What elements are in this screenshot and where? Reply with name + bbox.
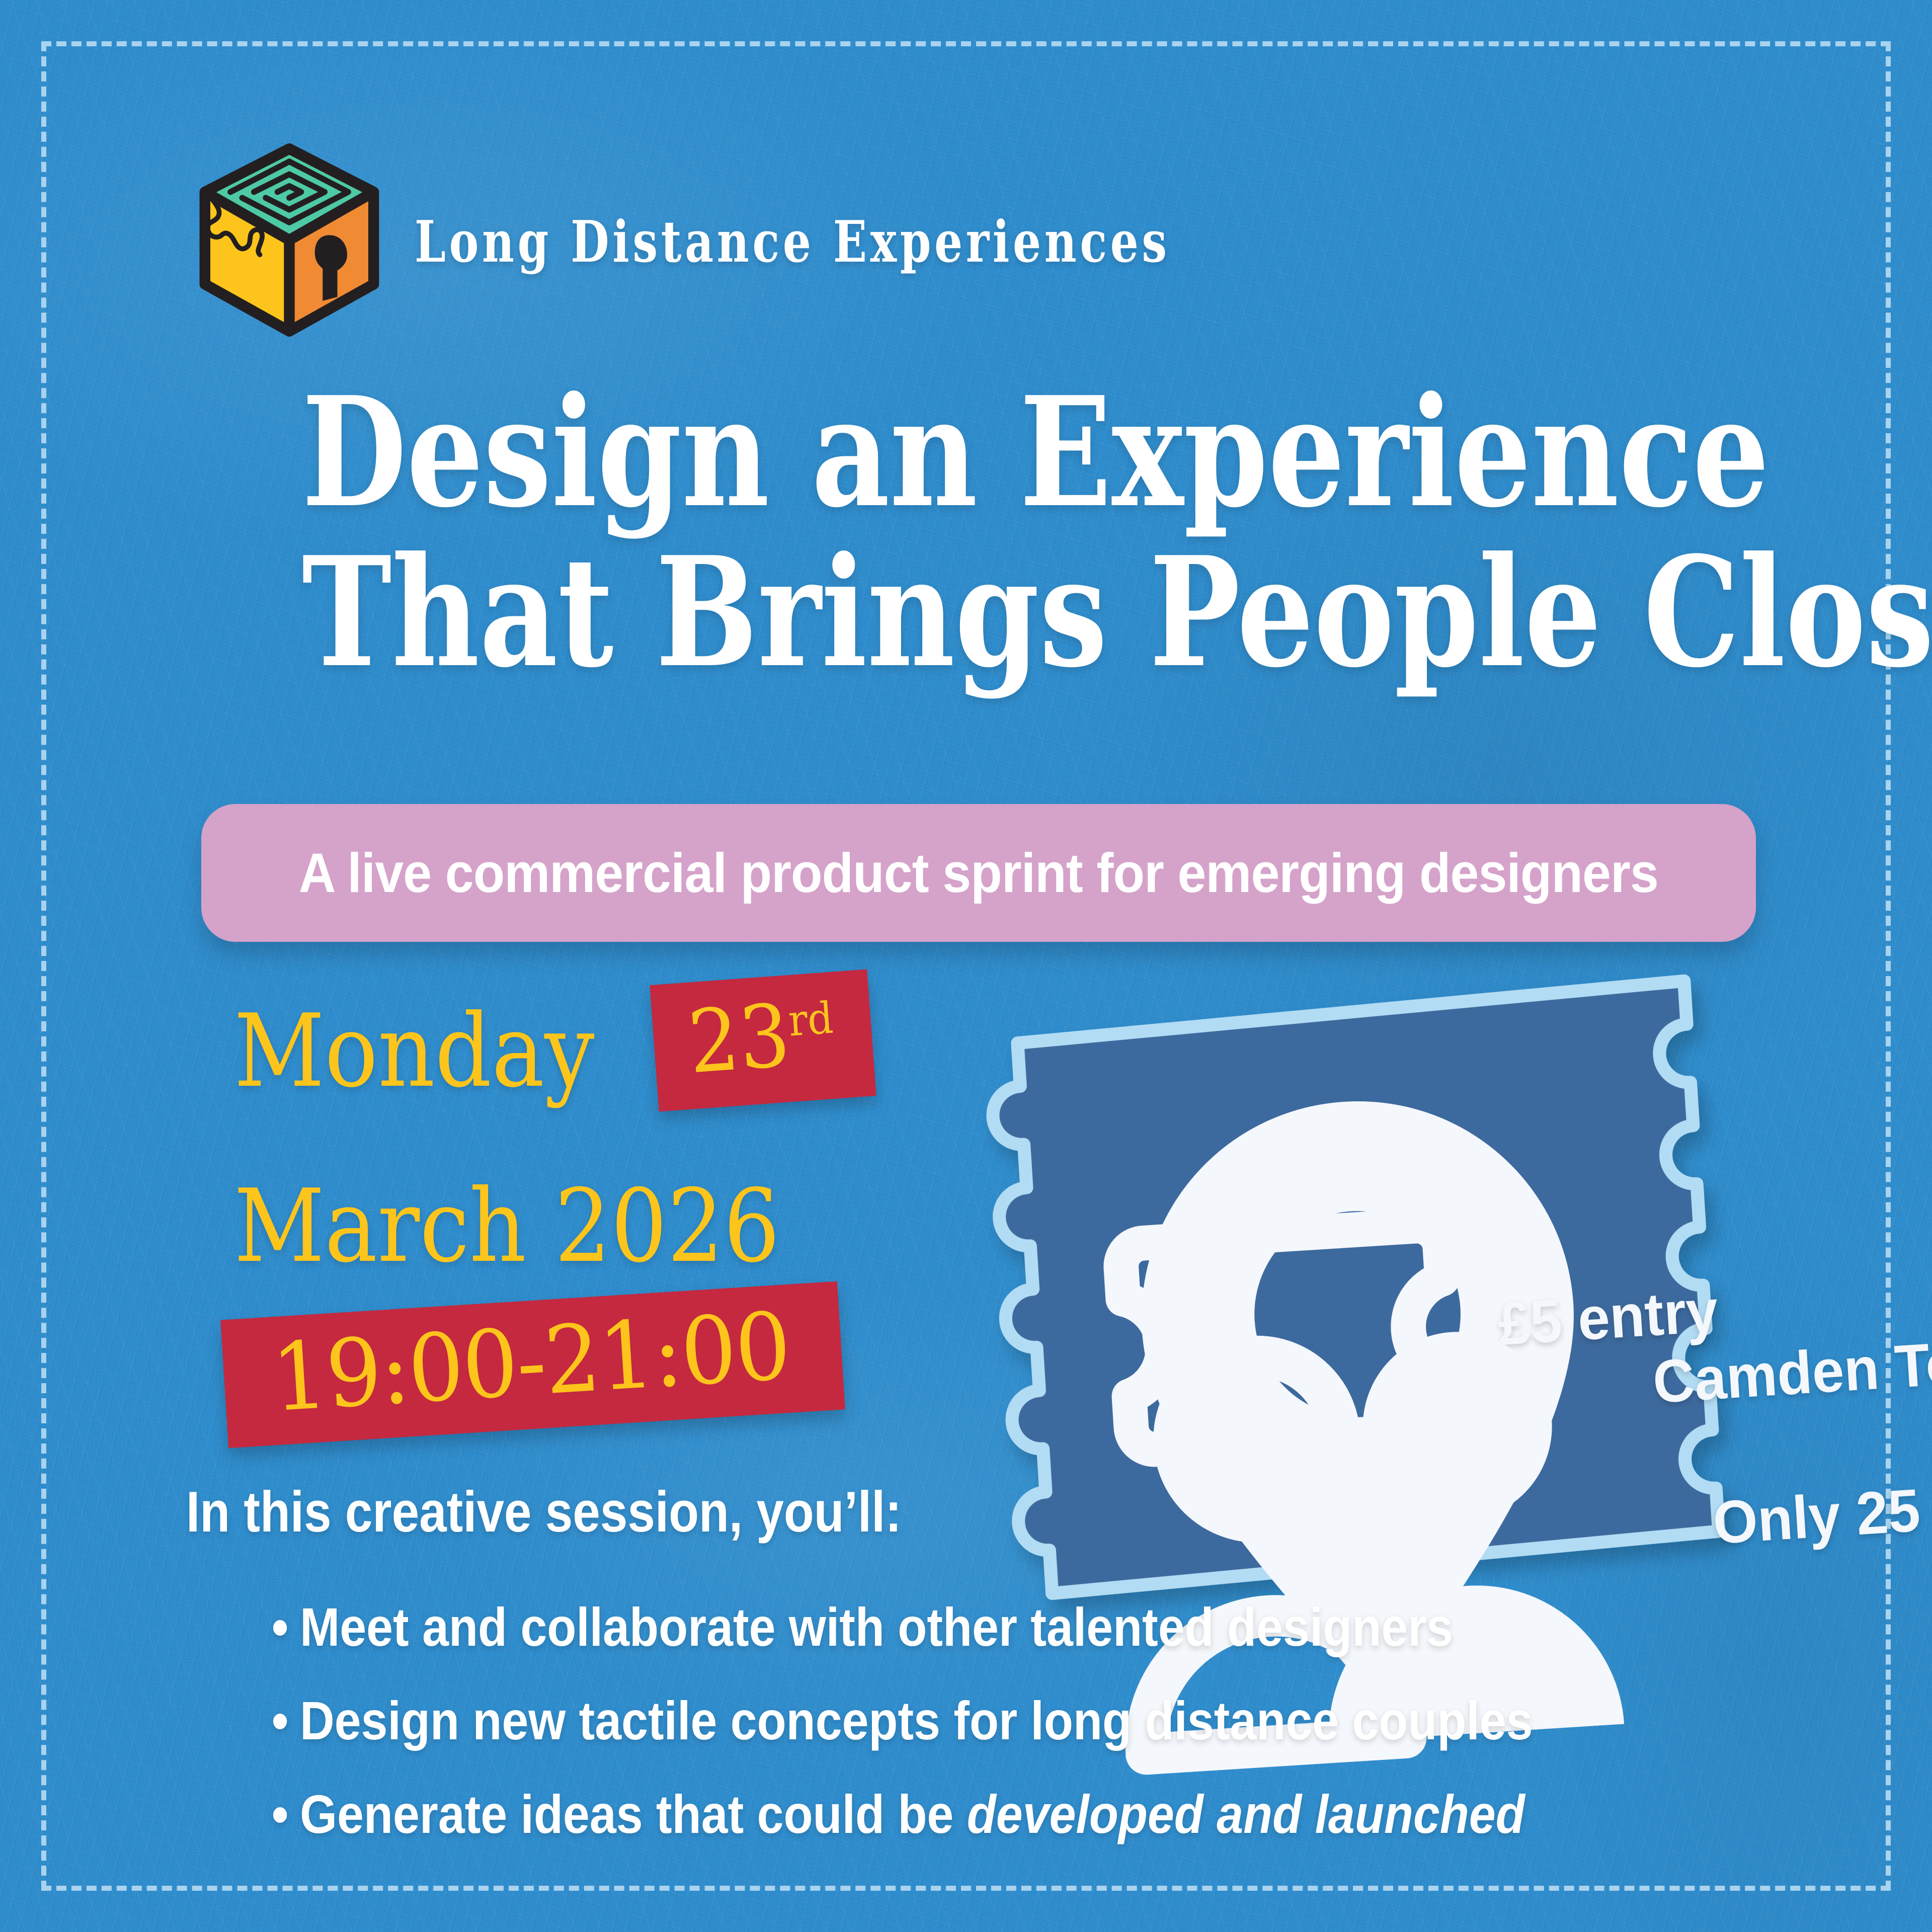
bullet-marker: • <box>272 1784 288 1844</box>
event-weekday: Monday <box>234 1001 595 1102</box>
bullet-emphasis: developed and launched <box>967 1784 1525 1844</box>
bullet-text: Generate ideas that could be <box>300 1784 967 1844</box>
event-date-block: Monday 23rd March 2026 19:00-21:00 <box>234 1001 963 1277</box>
page-title: Design an Experience That Brings People … <box>136 380 1796 685</box>
bullet-marker: • <box>272 1596 288 1657</box>
event-date-row: Monday 23rd <box>234 1001 963 1137</box>
list-item: •Meet and collaborate with other talente… <box>272 1600 1622 1654</box>
event-day-number: 23rd <box>685 989 837 1086</box>
title-line-2: That Brings People Closer <box>302 540 1630 685</box>
list-item: •Generate ideas that could be developed … <box>272 1787 1622 1841</box>
ticket-rows: Camden Town £5 entry Only 2 <box>981 979 1761 1608</box>
session-intro-text: In this creative session, you’ll: <box>186 1479 902 1545</box>
event-time: 19:00-21:00 <box>269 1300 792 1425</box>
event-month-year: March 2026 <box>234 1176 876 1277</box>
poster-canvas: Long Distance Experiences Design an Expe… <box>0 0 1932 1932</box>
event-ticket-card: Camden Town £5 entry Only 2 <box>999 1001 1743 1585</box>
bullet-text: Design new tactile concepts for long dis… <box>300 1690 1533 1751</box>
bullet-text: Meet and collaborate with other talented… <box>300 1596 1453 1657</box>
brand-name: Long Distance Experiences <box>415 208 1170 275</box>
bullet-marker: • <box>272 1690 288 1751</box>
list-item: •Design new tactile concepts for long di… <box>272 1694 1622 1748</box>
brand-header: Long Distance Experiences <box>191 141 1383 342</box>
subtitle-text: A live commercial product sprint for eme… <box>299 841 1658 905</box>
isometric-cube-maze-lock-logo <box>191 141 387 342</box>
title-line-1: Design an Experience <box>302 380 1630 525</box>
subtitle-banner: A live commercial product sprint for eme… <box>201 804 1756 942</box>
session-bullet-list: •Meet and collaborate with other talente… <box>272 1600 1806 1881</box>
event-day-badge: 23rd <box>650 969 876 1111</box>
